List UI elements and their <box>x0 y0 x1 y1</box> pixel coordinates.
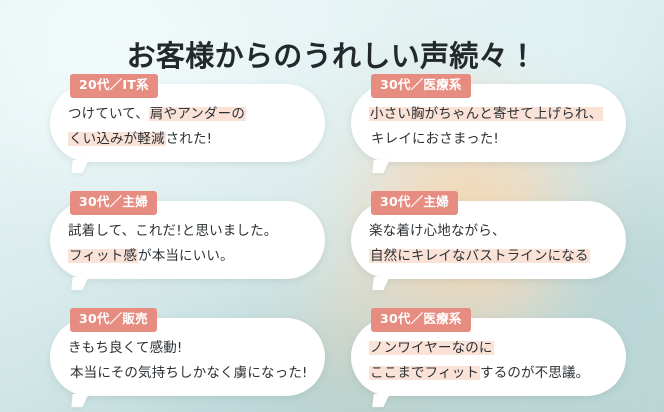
line-highlight <box>277 223 279 239</box>
testimonial-grid: 20代／IT系 つけていて、肩やアンダーの くい込みが軽減された! 30代／医療… <box>50 74 626 412</box>
testimonial-card: 30代／販売 きもち良くて感動! 本当にその気持ちしかなく虜になった! <box>50 308 325 412</box>
testimonial-card: 20代／IT系 つけていて、肩やアンダーの くい込みが軽減された! <box>50 74 325 181</box>
line-highlight: ノンワイヤーなのに <box>369 340 494 356</box>
line-plain: が本当にいい。 <box>138 248 234 264</box>
line-plain: された! <box>166 131 213 147</box>
testimonial-line-2: くい込みが軽減された! <box>68 127 318 152</box>
line-plain: 本当にその気持ちしかなく虜になった! <box>70 365 308 381</box>
testimonial-text: きもち良くて感動! 本当にその気持ちしかなく虜になった! <box>68 336 318 386</box>
line-highlight <box>182 340 184 356</box>
testimonial-line-1: ノンワイヤーなのに <box>369 336 619 361</box>
testimonial-line-2: キレイにおさまった! <box>369 127 619 152</box>
line-plain: 楽な着け心地ながら、 <box>369 223 506 239</box>
testimonial-text: ノンワイヤーなのに ここまでフィットするのが不思議。 <box>369 336 619 386</box>
line-highlight: くい込みが軽減 <box>68 131 166 147</box>
promo-banner: お客様からのうれしい声続々！ 20代／IT系 つけていて、肩やアンダーの くい込… <box>0 0 664 412</box>
testimonial-card: 30代／主婦 楽な着け心地ながら、 自然にキレイなバストラインになる <box>351 191 626 298</box>
line-plain: キレイにおさまった! <box>371 131 499 147</box>
status-badge: 30代／医療系 <box>371 308 471 332</box>
testimonial-line-2: 自然にキレイなバストラインになる <box>369 244 619 269</box>
testimonial-card: 30代／医療系 ノンワイヤーなのに ここまでフィットするのが不思議。 <box>351 308 626 412</box>
testimonial-card: 30代／医療系 小さい胸がちゃんと寄せて上げられ、 キレイにおさまった! <box>351 74 626 181</box>
testimonial-line-1: つけていて、肩やアンダーの <box>68 102 318 127</box>
testimonial-line-1: 試着して、これだ!と思いました。 <box>68 219 318 244</box>
line-highlight: 自然にキレイなバストラインになる <box>369 248 590 264</box>
line-plain: するのが不思議。 <box>480 365 589 381</box>
status-badge: 30代／医療系 <box>371 74 471 98</box>
status-badge: 30代／主婦 <box>70 191 157 215</box>
testimonial-line-1: 楽な着け心地ながら、 <box>369 219 619 244</box>
testimonial-line-1: きもち良くて感動! <box>68 336 318 361</box>
testimonial-text: つけていて、肩やアンダーの くい込みが軽減された! <box>68 102 318 152</box>
line-plain: 試着して、これだ!と思いました。 <box>68 223 277 239</box>
testimonial-text: 楽な着け心地ながら、 自然にキレイなバストラインになる <box>369 219 619 269</box>
line-plain: つけていて、 <box>68 106 149 122</box>
testimonial-line-2: 本当にその気持ちしかなく虜になった! <box>68 361 318 386</box>
line-highlight: ここまでフィット <box>369 365 480 381</box>
line-highlight: 小さい胸がちゃんと寄せて上げられ、 <box>369 106 603 122</box>
status-badge: 30代／主婦 <box>371 191 458 215</box>
testimonial-line-2: フィット感が本当にいい。 <box>68 244 318 269</box>
line-highlight: 肩やアンダーの <box>149 106 246 122</box>
page-title: お客様からのうれしい声続々！ <box>0 40 664 73</box>
testimonial-line-2: ここまでフィットするのが不思議。 <box>369 361 619 386</box>
status-badge: 30代／販売 <box>70 308 157 332</box>
testimonial-text: 小さい胸がちゃんと寄せて上げられ、 キレイにおさまった! <box>369 102 619 152</box>
status-badge: 20代／IT系 <box>70 74 158 98</box>
line-highlight <box>506 223 508 239</box>
line-plain: きもち良くて感動! <box>68 340 182 356</box>
testimonial-text: 試着して、これだ!と思いました。 フィット感が本当にいい。 <box>68 219 318 269</box>
testimonial-card: 30代／主婦 試着して、これだ!と思いました。 フィット感が本当にいい。 <box>50 191 325 298</box>
line-highlight: フィット感 <box>68 248 138 264</box>
testimonial-line-1: 小さい胸がちゃんと寄せて上げられ、 <box>369 102 619 127</box>
